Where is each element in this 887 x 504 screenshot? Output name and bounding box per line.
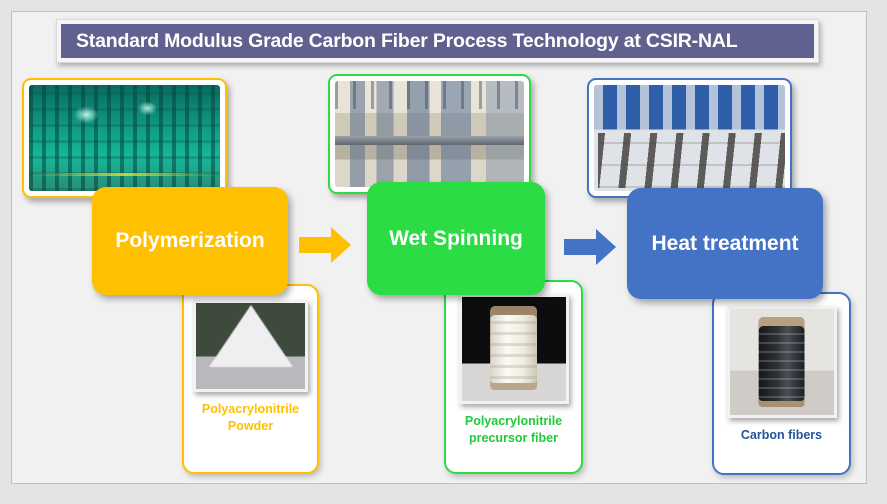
product-label-carbon-fibers: Carbon fibers xyxy=(741,427,822,444)
slide-canvas: Standard Modulus Grade Carbon Fiber Proc… xyxy=(11,11,867,484)
slide-title-banner: Standard Modulus Grade Carbon Fiber Proc… xyxy=(56,19,819,63)
process-photo-card-wet-spinning xyxy=(328,74,531,194)
wet-spinning-line-photo xyxy=(335,81,524,187)
product-label-polyacrylonitrile-precursor-fiber: Polyacrylonitrile precursor fiber xyxy=(465,413,562,447)
product-label-line2: precursor fiber xyxy=(465,430,562,447)
arrow-wet-spinning-to-heat-treatment xyxy=(564,228,617,266)
product-label-line1: Polyacrylonitrile xyxy=(202,401,299,418)
process-chip-label-heat-treatment: Heat treatment xyxy=(651,232,798,256)
heat-treatment-furnace-photo xyxy=(594,85,785,191)
product-card-polyacrylonitrile-powder: Polyacrylonitrile Powder xyxy=(182,284,319,474)
product-card-polyacrylonitrile-precursor-fiber: Polyacrylonitrile precursor fiber xyxy=(444,280,583,474)
product-label-polyacrylonitrile-powder: Polyacrylonitrile Powder xyxy=(202,401,299,435)
polymerization-plant-photo xyxy=(29,85,220,191)
product-label-line1: Polyacrylonitrile xyxy=(465,413,562,430)
process-chip-polymerization[interactable]: Polymerization xyxy=(92,187,288,295)
polyacrylonitrile-precursor-fiber-spool-photo xyxy=(459,294,569,404)
process-chip-wet-spinning[interactable]: Wet Spinning xyxy=(367,182,545,295)
process-chip-label-polymerization: Polymerization xyxy=(115,229,264,253)
arrow-right-icon xyxy=(299,226,352,264)
product-card-carbon-fibers: Carbon fibers xyxy=(712,292,851,475)
arrow-polymerization-to-wet-spinning xyxy=(299,226,352,264)
process-chip-label-wet-spinning: Wet Spinning xyxy=(389,227,523,251)
process-photo-card-heat-treatment xyxy=(587,78,792,198)
product-label-line2: Powder xyxy=(202,418,299,435)
slide-title-bar: Standard Modulus Grade Carbon Fiber Proc… xyxy=(61,24,814,58)
polyacrylonitrile-powder-photo xyxy=(193,300,308,392)
arrow-right-icon xyxy=(564,228,617,266)
process-photo-card-polymerization xyxy=(22,78,227,198)
page-title: Standard Modulus Grade Carbon Fiber Proc… xyxy=(76,30,737,53)
product-label-line1: Carbon fibers xyxy=(741,427,822,444)
carbon-fiber-spool-photo xyxy=(727,306,837,418)
process-chip-heat-treatment[interactable]: Heat treatment xyxy=(627,188,823,299)
